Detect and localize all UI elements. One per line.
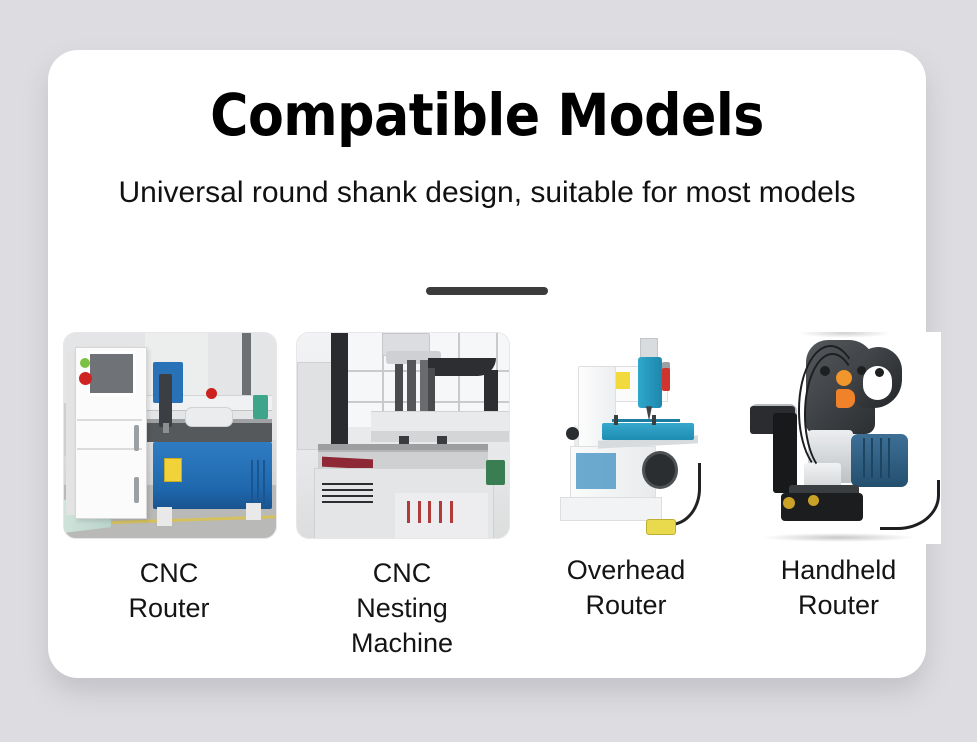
cnc-nesting-machine-thumbnail[interactable] [296,332,510,539]
model-label-line-1: Handheld [736,553,941,588]
model-label: CNC Nesting Machine [296,556,508,661]
overhead-router-photo [526,332,726,544]
page-subtitle: Universal round shank design, suitable f… [108,172,866,213]
cnc-nesting-machine-photo [297,333,509,538]
model-label-line-2: Nesting [296,591,508,626]
overhead-router-thumbnail[interactable] [526,332,726,544]
models-grid: CNC Router [48,332,926,662]
page-title: Compatible Models [48,84,926,146]
handheld-router-thumbnail[interactable] [736,332,941,544]
model-item-overhead-router[interactable]: Overhead Router [526,332,726,623]
model-label: Handheld Router [736,553,941,623]
model-item-handheld-router[interactable]: Handheld Router [736,332,941,623]
model-label-line-1: Overhead [526,553,726,588]
model-item-cnc-router[interactable]: CNC Router [63,332,275,626]
cnc-router-photo [64,333,276,538]
model-label: Overhead Router [526,553,726,623]
cnc-router-thumbnail[interactable] [63,332,277,539]
model-label: CNC Router [63,556,275,626]
title-divider [426,287,548,295]
model-label-line-3: Machine [296,626,508,661]
model-label-line-1: CNC [63,556,275,591]
model-label-line-2: Router [63,591,275,626]
model-label-line-2: Router [736,588,941,623]
compatible-models-card: Compatible Models Universal round shank … [48,50,926,678]
page-root: Compatible Models Universal round shank … [0,0,977,742]
model-label-line-1: CNC [296,556,508,591]
handheld-router-photo [736,332,941,544]
model-item-cnc-nesting-machine[interactable]: CNC Nesting Machine [296,332,508,661]
model-label-line-2: Router [526,588,726,623]
